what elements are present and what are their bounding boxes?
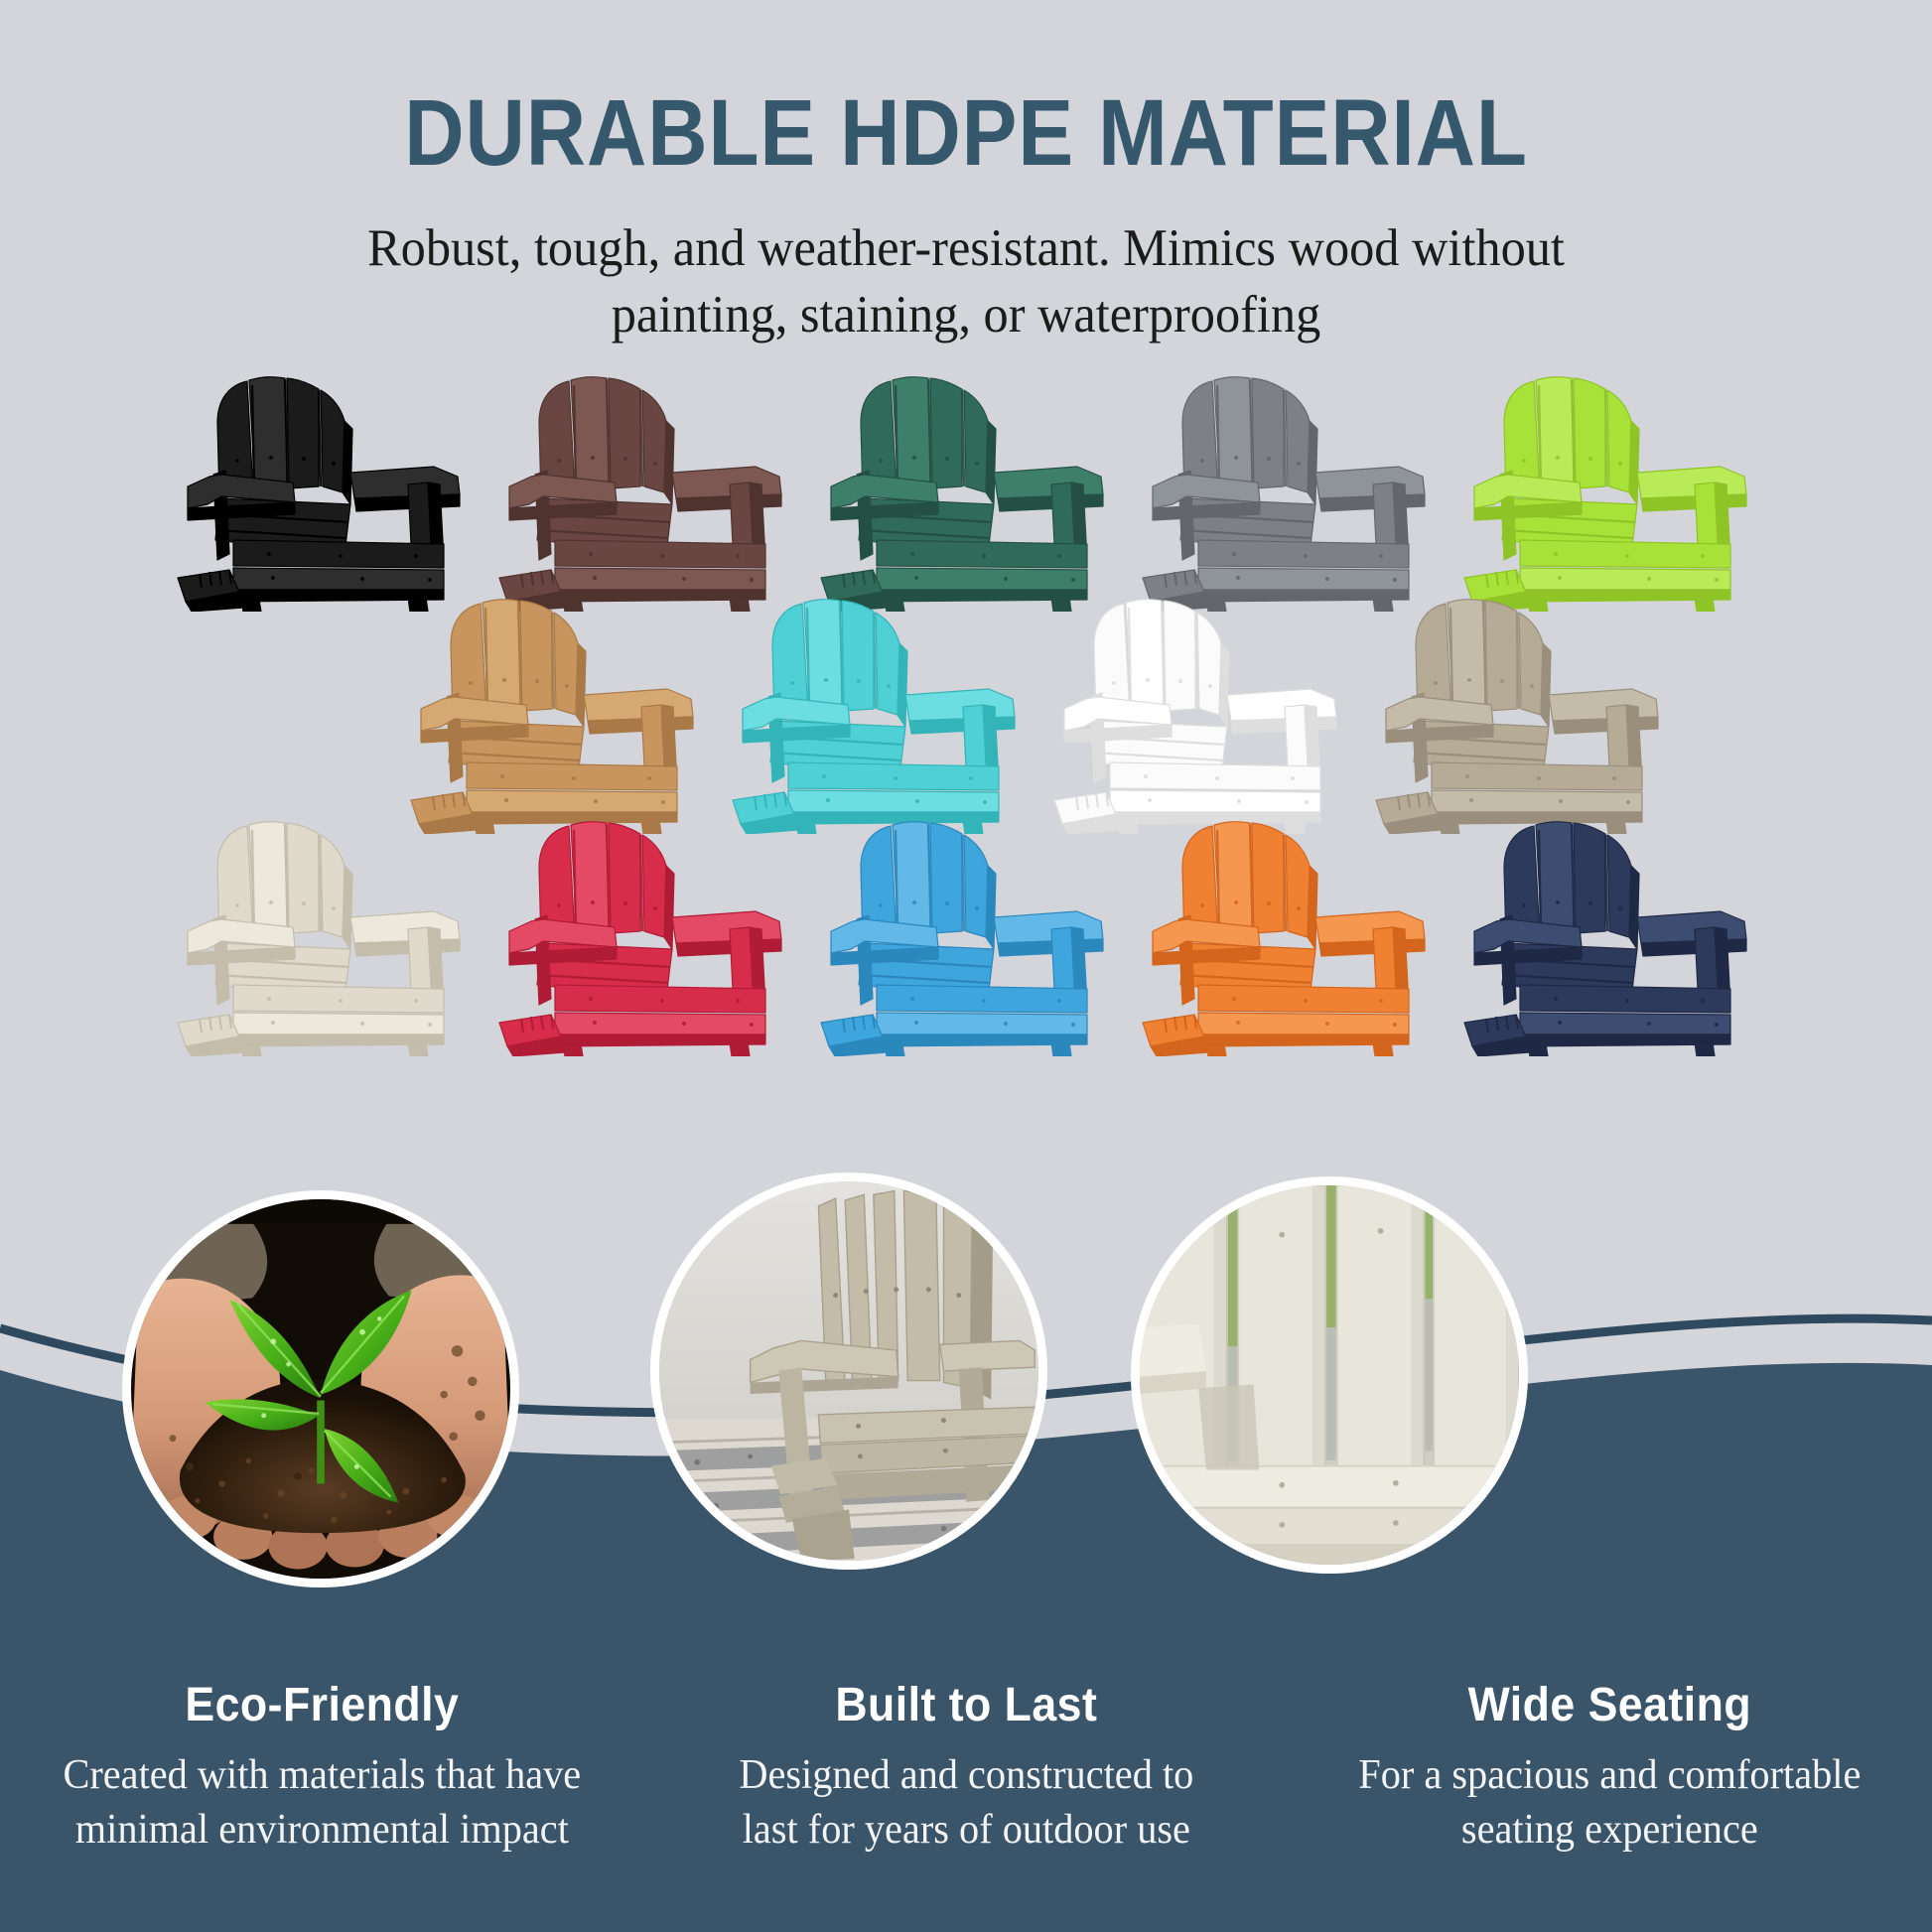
- header-block: DURABLE HDPE MATERIAL Robust, tough, and…: [0, 85, 1932, 348]
- chair-row-2: [0, 588, 1932, 834]
- chair-row-3: [0, 810, 1932, 1056]
- feature-desc-line-2: last for years of outdoor use: [742, 1807, 1189, 1853]
- infographic-page: DURABLE HDPE MATERIAL Robust, tough, and…: [0, 0, 1932, 1932]
- chair-swatch-weathered-wood[interactable]: [1372, 588, 1670, 834]
- feature-desc-line-1: For a spacious and comfortable: [1359, 1752, 1862, 1798]
- feature-eco-friendly: Eco-Friendly Created with materials that…: [0, 1678, 644, 1857]
- feature-title: Wide Seating: [1327, 1678, 1893, 1732]
- chair-swatch-red[interactable]: [495, 810, 793, 1056]
- feature-description: Designed and constructed to last for yea…: [674, 1748, 1258, 1857]
- chair-swatch-orange[interactable]: [1139, 810, 1437, 1056]
- chair-color-grid: [0, 365, 1932, 1056]
- chair-swatch-sky-blue[interactable]: [817, 810, 1115, 1056]
- feature-desc-line-2: seating experience: [1461, 1807, 1758, 1853]
- wide-chair-seat-closeup-photo[interactable]: [1131, 1176, 1528, 1574]
- chair-swatch-black[interactable]: [174, 365, 472, 612]
- feature-description: Created with materials that have minimal…: [30, 1748, 614, 1857]
- feature-title: Built to Last: [683, 1678, 1249, 1732]
- chair-swatch-teak[interactable]: [407, 588, 705, 834]
- feature-built-to-last: Built to Last Designed and constructed t…: [644, 1678, 1289, 1857]
- chair-swatch-dark-green[interactable]: [817, 365, 1115, 612]
- chair-swatch-white[interactable]: [1050, 588, 1348, 834]
- subtitle-line-2: painting, staining, or waterproofing: [612, 286, 1321, 344]
- subtitle-line-1: Robust, tough, and weather-resistant. Mi…: [367, 219, 1565, 277]
- feature-title: Eco-Friendly: [39, 1678, 605, 1732]
- feature-wide-seating: Wide Seating For a spacious and comforta…: [1288, 1678, 1932, 1857]
- chair-swatch-gray[interactable]: [1139, 365, 1437, 612]
- chair-swatch-ivory[interactable]: [174, 810, 472, 1056]
- beige-chair-on-patio-photo[interactable]: [650, 1173, 1047, 1570]
- chair-swatch-navy-blue[interactable]: [1460, 810, 1758, 1056]
- feature-description: For a spacious and comfortable seating e…: [1318, 1748, 1902, 1857]
- chair-swatch-brown[interactable]: [495, 365, 793, 612]
- feature-desc-line-2: minimal environmental impact: [75, 1807, 569, 1853]
- chair-swatch-lime-green[interactable]: [1460, 365, 1758, 612]
- page-subtitle: Robust, tough, and weather-resistant. Mi…: [335, 215, 1598, 349]
- feature-desc-line-1: Designed and constructed to: [739, 1752, 1193, 1798]
- hands-holding-seedling-photo[interactable]: [122, 1190, 519, 1587]
- page-title: DURABLE HDPE MATERIAL: [116, 85, 1816, 182]
- feature-captions: Eco-Friendly Created with materials that…: [0, 1678, 1932, 1857]
- chair-swatch-turquoise[interactable]: [729, 588, 1027, 834]
- feature-desc-line-1: Created with materials that have: [63, 1752, 581, 1798]
- chair-row-1: [0, 365, 1932, 612]
